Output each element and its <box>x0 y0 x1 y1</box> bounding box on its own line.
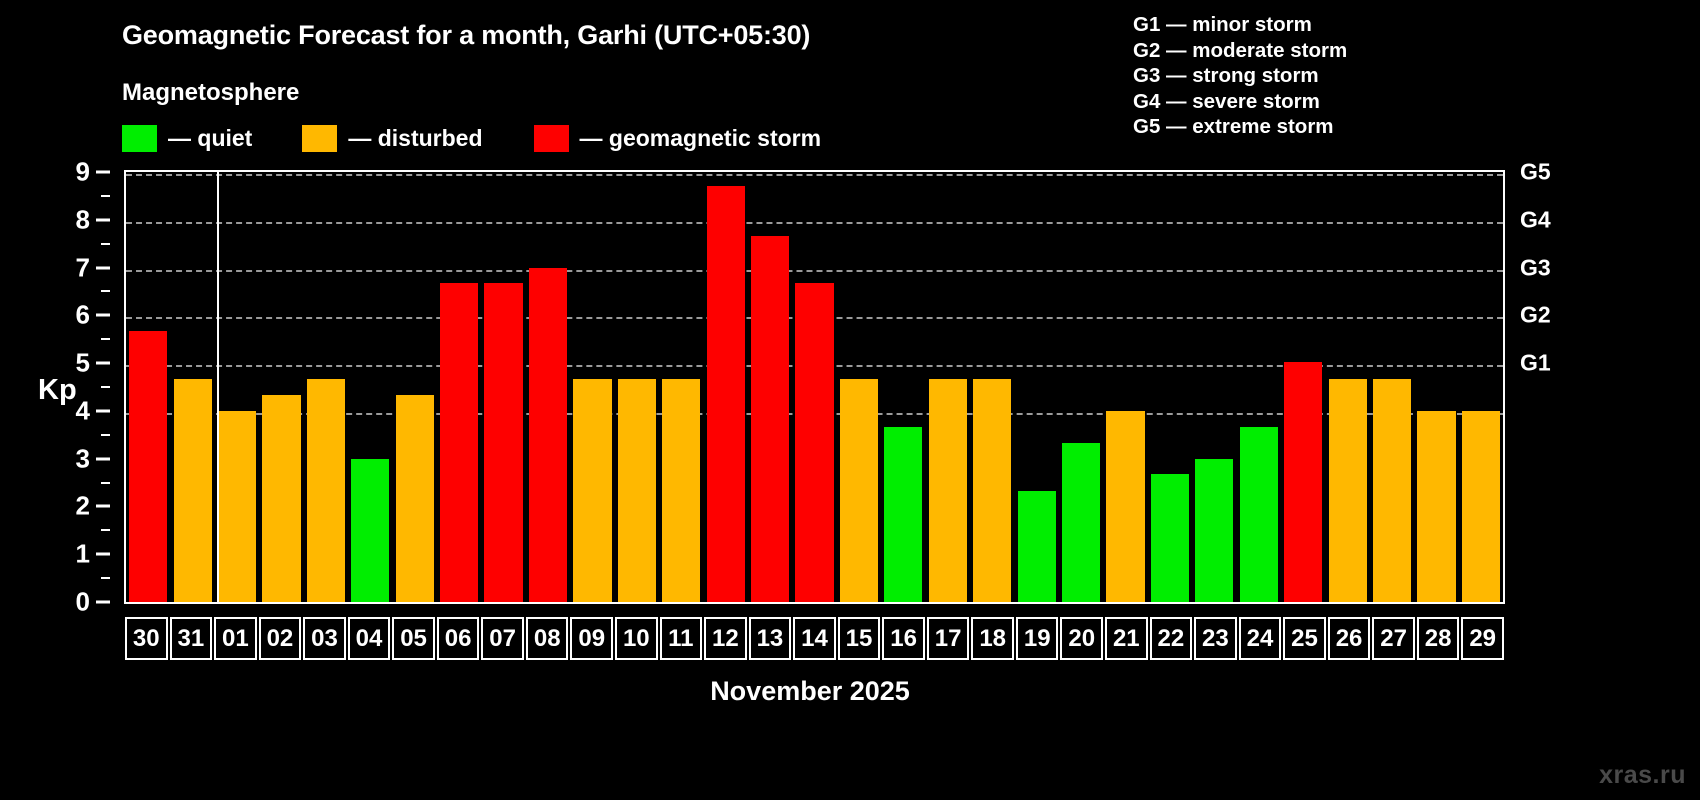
day-label-12[interactable]: 12 <box>704 617 747 660</box>
bar-15[interactable] <box>840 379 878 602</box>
bar-13[interactable] <box>751 236 789 602</box>
y-tick-label-0: 0 <box>76 587 90 618</box>
bar-series <box>126 172 1503 602</box>
page-title: Geomagnetic Forecast for a month, Garhi … <box>122 20 810 51</box>
storm-scale-item-g3: G3 — strong storm <box>1133 63 1347 89</box>
y-axis-title: Kp <box>38 374 77 407</box>
bar-cell-08[interactable] <box>526 172 570 602</box>
bar-21[interactable] <box>1106 411 1144 602</box>
bar-cell-30[interactable] <box>126 172 170 602</box>
bar-11[interactable] <box>662 379 700 602</box>
day-label-31[interactable]: 31 <box>170 617 213 660</box>
y-tick-label-5: 5 <box>76 348 90 379</box>
y-tick-minor <box>101 529 110 531</box>
bar-cell-14[interactable] <box>792 172 836 602</box>
bar-cell-27[interactable] <box>1370 172 1414 602</box>
day-label-02[interactable]: 02 <box>259 617 302 660</box>
legend-item-storm: — geomagnetic storm <box>534 125 822 152</box>
day-label-29[interactable]: 29 <box>1461 617 1504 660</box>
y-tick-5 <box>96 362 110 365</box>
bar-14[interactable] <box>795 283 833 602</box>
y-tick-label-3: 3 <box>76 443 90 474</box>
bar-07[interactable] <box>484 283 522 602</box>
y-tick-label-6: 6 <box>76 300 90 331</box>
bar-cell-13[interactable] <box>748 172 792 602</box>
g-tick-label-g2: G2 <box>1520 302 1551 329</box>
bar-10[interactable] <box>618 379 656 602</box>
storm-scale-item-g1: G1 — minor storm <box>1133 12 1347 38</box>
bar-23[interactable] <box>1195 459 1233 602</box>
bar-01[interactable] <box>218 411 256 602</box>
y-tick-minor <box>101 338 110 340</box>
legend-swatch-disturbed-icon <box>302 125 337 152</box>
day-label-30[interactable]: 30 <box>125 617 168 660</box>
bar-cell-17[interactable] <box>926 172 970 602</box>
y-tick-label-7: 7 <box>76 252 90 283</box>
y-tick-1 <box>96 553 110 556</box>
x-axis-title-text: November 2025 <box>710 676 910 707</box>
y-tick-minor <box>101 290 110 292</box>
bar-cell-15[interactable] <box>837 172 881 602</box>
day-label-01[interactable]: 01 <box>214 617 257 660</box>
y-tick-label-2: 2 <box>76 491 90 522</box>
y-tick-0 <box>96 601 110 604</box>
storm-scale-item-g5: G5 — extreme storm <box>1133 114 1347 140</box>
bar-cell-29[interactable] <box>1459 172 1503 602</box>
day-label-11[interactable]: 11 <box>660 617 703 660</box>
day-label-09[interactable]: 09 <box>570 617 613 660</box>
day-label-28[interactable]: 28 <box>1417 617 1460 660</box>
day-label-27[interactable]: 27 <box>1372 617 1415 660</box>
bar-cell-18[interactable] <box>970 172 1014 602</box>
bar-cell-31[interactable] <box>170 172 214 602</box>
bar-16[interactable] <box>884 427 922 602</box>
bar-20[interactable] <box>1062 443 1100 602</box>
bar-12[interactable] <box>707 186 745 602</box>
plot-area <box>124 170 1505 604</box>
g-axis: G1G2G3G4G5 <box>1514 170 1634 604</box>
day-label-14[interactable]: 14 <box>793 617 836 660</box>
forecast-divider <box>217 172 219 602</box>
y-tick-2 <box>96 505 110 508</box>
day-label-04[interactable]: 04 <box>348 617 391 660</box>
bar-cell-11[interactable] <box>659 172 703 602</box>
day-label-19[interactable]: 19 <box>1016 617 1059 660</box>
y-tick-minor <box>101 243 110 245</box>
y-tick-label-8: 8 <box>76 204 90 235</box>
y-tick-minor <box>101 434 110 436</box>
bar-cell-05[interactable] <box>393 172 437 602</box>
day-label-03[interactable]: 03 <box>303 617 346 660</box>
y-tick-6 <box>96 314 110 317</box>
bar-28[interactable] <box>1417 411 1455 602</box>
g-tick-label-g5: G5 <box>1520 159 1551 186</box>
bar-cell-09[interactable] <box>570 172 614 602</box>
bar-cell-10[interactable] <box>615 172 659 602</box>
bar-cell-01[interactable] <box>215 172 259 602</box>
y-tick-8 <box>96 218 110 221</box>
bar-03[interactable] <box>307 379 345 602</box>
y-tick-minor <box>101 482 110 484</box>
bar-26[interactable] <box>1329 379 1367 602</box>
day-label-13[interactable]: 13 <box>749 617 792 660</box>
legend-label-disturbed: — disturbed <box>348 125 482 152</box>
legend-label-storm: — geomagnetic storm <box>580 125 822 152</box>
bar-cell-23[interactable] <box>1192 172 1236 602</box>
y-tick-4 <box>96 409 110 412</box>
y-tick-label-1: 1 <box>76 539 90 570</box>
bar-cell-03[interactable] <box>304 172 348 602</box>
y-tick-7 <box>96 266 110 269</box>
x-axis-day-labels: 3031010203040506070809101112131415161718… <box>124 617 1505 660</box>
y-tick-label-9: 9 <box>76 157 90 188</box>
bar-09[interactable] <box>573 379 611 602</box>
bar-cell-12[interactable] <box>703 172 747 602</box>
bar-cell-20[interactable] <box>1059 172 1103 602</box>
legend-label-quiet: — quiet <box>168 125 252 152</box>
day-label-17[interactable]: 17 <box>927 617 970 660</box>
bar-cell-21[interactable] <box>1103 172 1147 602</box>
bar-cell-19[interactable] <box>1014 172 1058 602</box>
bar-29[interactable] <box>1462 411 1500 602</box>
bar-30[interactable] <box>129 331 167 602</box>
y-tick-label-4: 4 <box>76 395 90 426</box>
bar-cell-16[interactable] <box>881 172 925 602</box>
storm-scale-item-g2: G2 — moderate storm <box>1133 38 1347 64</box>
day-label-23[interactable]: 23 <box>1194 617 1237 660</box>
bar-31[interactable] <box>174 379 212 602</box>
bar-22[interactable] <box>1151 474 1189 602</box>
day-label-22[interactable]: 22 <box>1150 617 1193 660</box>
bar-cell-04[interactable] <box>348 172 392 602</box>
legend-item-disturbed: — disturbed <box>302 125 482 152</box>
day-label-24[interactable]: 24 <box>1239 617 1282 660</box>
legend-swatch-quiet-icon <box>122 125 157 152</box>
magnetosphere-label: Magnetosphere <box>122 79 299 107</box>
y-tick-9 <box>96 171 110 174</box>
g-tick-label-g3: G3 <box>1520 254 1551 281</box>
g-tick-label-g1: G1 <box>1520 350 1551 377</box>
watermark: xras.ru <box>1599 761 1686 790</box>
bar-18[interactable] <box>973 379 1011 602</box>
y-tick-3 <box>96 457 110 460</box>
x-axis-title: November 2025 <box>0 676 1700 707</box>
day-label-05[interactable]: 05 <box>392 617 435 660</box>
bar-cell-02[interactable] <box>259 172 303 602</box>
bar-05[interactable] <box>396 395 434 602</box>
legend-swatch-storm-icon <box>534 125 569 152</box>
bar-04[interactable] <box>351 459 389 602</box>
bar-06[interactable] <box>440 283 478 602</box>
bar-17[interactable] <box>929 379 967 602</box>
day-label-25[interactable]: 25 <box>1283 617 1326 660</box>
bar-27[interactable] <box>1373 379 1411 602</box>
geomagnetic-forecast-chart: Geomagnetic Forecast for a month, Garhi … <box>0 0 1700 800</box>
bar-cell-07[interactable] <box>481 172 525 602</box>
bar-02[interactable] <box>262 395 300 602</box>
bar-25[interactable] <box>1284 362 1322 602</box>
y-tick-minor <box>101 195 110 197</box>
bar-cell-25[interactable] <box>1281 172 1325 602</box>
day-label-26[interactable]: 26 <box>1328 617 1371 660</box>
storm-scale-item-g4: G4 — severe storm <box>1133 89 1347 115</box>
legend-item-quiet: — quiet <box>122 125 252 152</box>
day-label-20[interactable]: 20 <box>1060 617 1103 660</box>
bar-cell-26[interactable] <box>1325 172 1369 602</box>
day-label-10[interactable]: 10 <box>615 617 658 660</box>
bar-19[interactable] <box>1018 491 1056 602</box>
day-label-08[interactable]: 08 <box>526 617 569 660</box>
day-label-18[interactable]: 18 <box>971 617 1014 660</box>
bar-cell-28[interactable] <box>1414 172 1458 602</box>
day-label-15[interactable]: 15 <box>838 617 881 660</box>
storm-scale-legend: G1 — minor stormG2 — moderate stormG3 — … <box>1133 12 1347 140</box>
day-label-07[interactable]: 07 <box>481 617 524 660</box>
bar-cell-06[interactable] <box>437 172 481 602</box>
bar-cell-24[interactable] <box>1237 172 1281 602</box>
y-tick-minor <box>101 577 110 579</box>
legend: — quiet— disturbed— geomagnetic storm <box>122 123 821 153</box>
day-label-06[interactable]: 06 <box>437 617 480 660</box>
day-label-16[interactable]: 16 <box>882 617 925 660</box>
y-tick-minor <box>101 386 110 388</box>
day-label-21[interactable]: 21 <box>1105 617 1148 660</box>
bar-08[interactable] <box>529 268 567 602</box>
bar-24[interactable] <box>1240 427 1278 602</box>
g-tick-label-g4: G4 <box>1520 206 1551 233</box>
bar-cell-22[interactable] <box>1148 172 1192 602</box>
